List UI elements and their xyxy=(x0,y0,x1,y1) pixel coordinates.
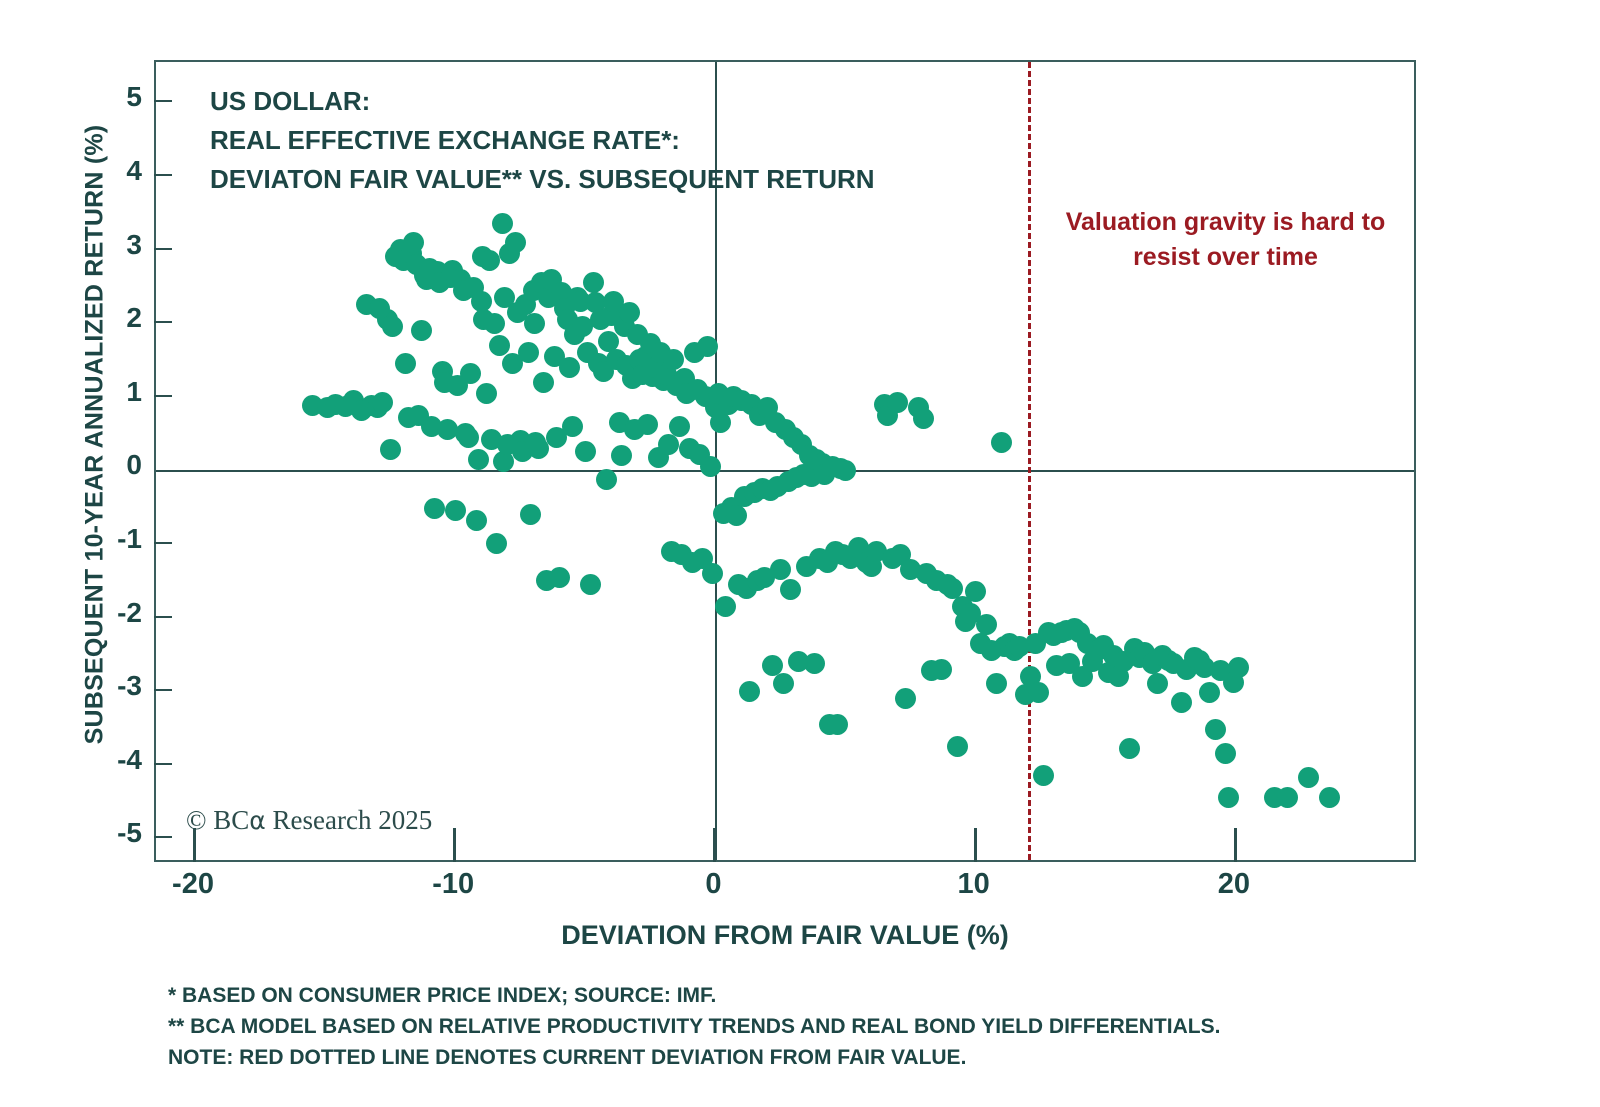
scatter-point xyxy=(411,320,432,341)
y-axis-tick-label: 3 xyxy=(72,229,142,261)
scatter-point xyxy=(739,681,760,702)
scatter-point xyxy=(1028,682,1049,703)
scatter-point xyxy=(382,316,403,337)
y-axis-tick-label: 1 xyxy=(72,376,142,408)
copyright-symbol: © BC xyxy=(186,805,249,835)
scatter-point xyxy=(524,313,545,334)
chart-title: US DOLLAR:REAL EFFECTIVE EXCHANGE RATE*:… xyxy=(210,82,875,199)
scatter-point xyxy=(559,357,580,378)
scatter-point xyxy=(1277,787,1298,808)
scatter-point xyxy=(486,533,507,554)
y-axis-tick xyxy=(154,174,172,176)
y-axis-tick-label: 2 xyxy=(72,302,142,334)
scatter-point xyxy=(804,653,825,674)
scatter-point xyxy=(1199,682,1220,703)
scatter-point xyxy=(372,392,393,413)
scatter-point xyxy=(773,673,794,694)
scatter-point xyxy=(460,363,481,384)
scatter-point xyxy=(931,659,952,680)
y-axis-tick-label: 0 xyxy=(72,449,142,481)
scatter-point xyxy=(505,232,526,253)
scatter-point xyxy=(580,574,601,595)
scatter-point xyxy=(489,335,510,356)
y-axis-tick-label: 5 xyxy=(72,81,142,113)
scatter-point xyxy=(710,412,731,433)
x-axis-title: DEVIATION FROM FAIR VALUE (%) xyxy=(154,920,1416,951)
scatter-point xyxy=(380,439,401,460)
scatter-point xyxy=(403,232,424,253)
x-axis-tick-label: 10 xyxy=(914,868,1034,901)
scatter-point xyxy=(619,302,640,323)
scatter-point xyxy=(583,272,604,293)
scatter-point xyxy=(458,427,479,448)
y-axis-tick xyxy=(154,616,172,618)
scatter-point xyxy=(637,414,658,435)
scatter-point xyxy=(518,342,539,363)
scatter-point xyxy=(986,673,1007,694)
footnote-line: * BASED ON CONSUMER PRICE INDEX; SOURCE:… xyxy=(168,980,1220,1011)
scatter-point xyxy=(700,456,721,477)
chart-title-line: US DOLLAR: xyxy=(210,82,875,121)
scatter-point xyxy=(991,432,1012,453)
scatter-point xyxy=(611,445,632,466)
footnote-line: ** BCA MODEL BASED ON RELATIVE PRODUCTIV… xyxy=(168,1011,1220,1042)
chart-title-line: DEVIATON FAIR VALUE** VS. SUBSEQUENT RET… xyxy=(210,160,875,199)
scatter-point xyxy=(658,434,679,455)
x-axis-tick xyxy=(453,828,456,862)
copyright-notice: © BCα Research 2025 xyxy=(186,805,432,836)
scatter-point xyxy=(726,505,747,526)
scatter-point xyxy=(492,213,513,234)
scatter-point xyxy=(424,498,445,519)
scatter-point xyxy=(947,736,968,757)
scatter-point xyxy=(669,416,690,437)
scatter-point xyxy=(887,392,908,413)
scatter-point xyxy=(562,416,583,437)
y-axis-tick xyxy=(154,100,172,102)
scatter-point xyxy=(520,504,541,525)
scatter-point xyxy=(476,383,497,404)
scatter-point xyxy=(770,559,791,580)
scatter-point xyxy=(479,250,500,271)
x-axis-tick-label: -20 xyxy=(133,868,253,901)
x-axis-tick-label: 20 xyxy=(1174,868,1294,901)
scatter-point xyxy=(715,596,736,617)
scatter-point xyxy=(549,567,570,588)
scatter-point xyxy=(484,313,505,334)
scatter-point xyxy=(895,688,916,709)
y-axis-tick-label: -5 xyxy=(72,817,142,849)
scatter-point xyxy=(835,460,856,481)
scatter-point xyxy=(1215,743,1236,764)
x-axis-tick xyxy=(1234,828,1237,862)
footnotes: * BASED ON CONSUMER PRICE INDEX; SOURCE:… xyxy=(168,980,1220,1073)
y-axis-tick xyxy=(154,763,172,765)
scatter-point xyxy=(468,449,489,470)
scatter-point xyxy=(780,579,801,600)
valuation-gravity-annotation: Valuation gravity is hard to resist over… xyxy=(1048,205,1403,275)
copyright-text: Research 2025 xyxy=(266,805,432,835)
y-axis-tick-label: 4 xyxy=(72,155,142,187)
y-axis-tick-label: -4 xyxy=(72,744,142,776)
x-axis-tick xyxy=(974,828,977,862)
scatter-point xyxy=(976,614,997,635)
scatter-point xyxy=(1033,765,1054,786)
scatter-point xyxy=(1228,657,1249,678)
scatter-point xyxy=(1319,787,1340,808)
scatter-point xyxy=(1298,767,1319,788)
scatter-point xyxy=(466,510,487,531)
y-axis-tick-label: -1 xyxy=(72,523,142,555)
y-axis-tick xyxy=(154,248,172,250)
scatter-point xyxy=(702,563,723,584)
scatter-point xyxy=(575,441,596,462)
y-axis-tick-label: -3 xyxy=(72,670,142,702)
scatter-point xyxy=(1147,673,1168,694)
scatter-point xyxy=(827,714,848,735)
x-axis-tick-label: 0 xyxy=(653,868,773,901)
scatter-point xyxy=(445,500,466,521)
scatter-point xyxy=(965,581,986,602)
y-axis-tick xyxy=(154,395,172,397)
brand-alpha-glyph: α xyxy=(249,806,265,835)
scatter-point xyxy=(1119,738,1140,759)
x-axis-tick xyxy=(713,828,716,862)
y-axis-tick-label: -2 xyxy=(72,597,142,629)
scatter-point xyxy=(1205,719,1226,740)
chart-figure: SUBSEQUENT 10-YEAR ANNUALIZED RETURN (%)… xyxy=(0,0,1600,1107)
scatter-point xyxy=(395,353,416,374)
y-axis-tick xyxy=(154,321,172,323)
scatter-point xyxy=(1218,787,1239,808)
y-axis-tick xyxy=(154,542,172,544)
x-axis-tick-label: -10 xyxy=(393,868,513,901)
footnote-line: NOTE: RED DOTTED LINE DENOTES CURRENT DE… xyxy=(168,1042,1220,1073)
reference-line-current-deviation xyxy=(1028,62,1031,860)
y-axis-tick xyxy=(154,689,172,691)
scatter-point xyxy=(533,372,554,393)
scatter-point xyxy=(913,408,934,429)
chart-title-line: REAL EFFECTIVE EXCHANGE RATE*: xyxy=(210,121,875,160)
y-axis-tick xyxy=(154,836,172,838)
scatter-point xyxy=(596,469,617,490)
scatter-point xyxy=(1171,692,1192,713)
